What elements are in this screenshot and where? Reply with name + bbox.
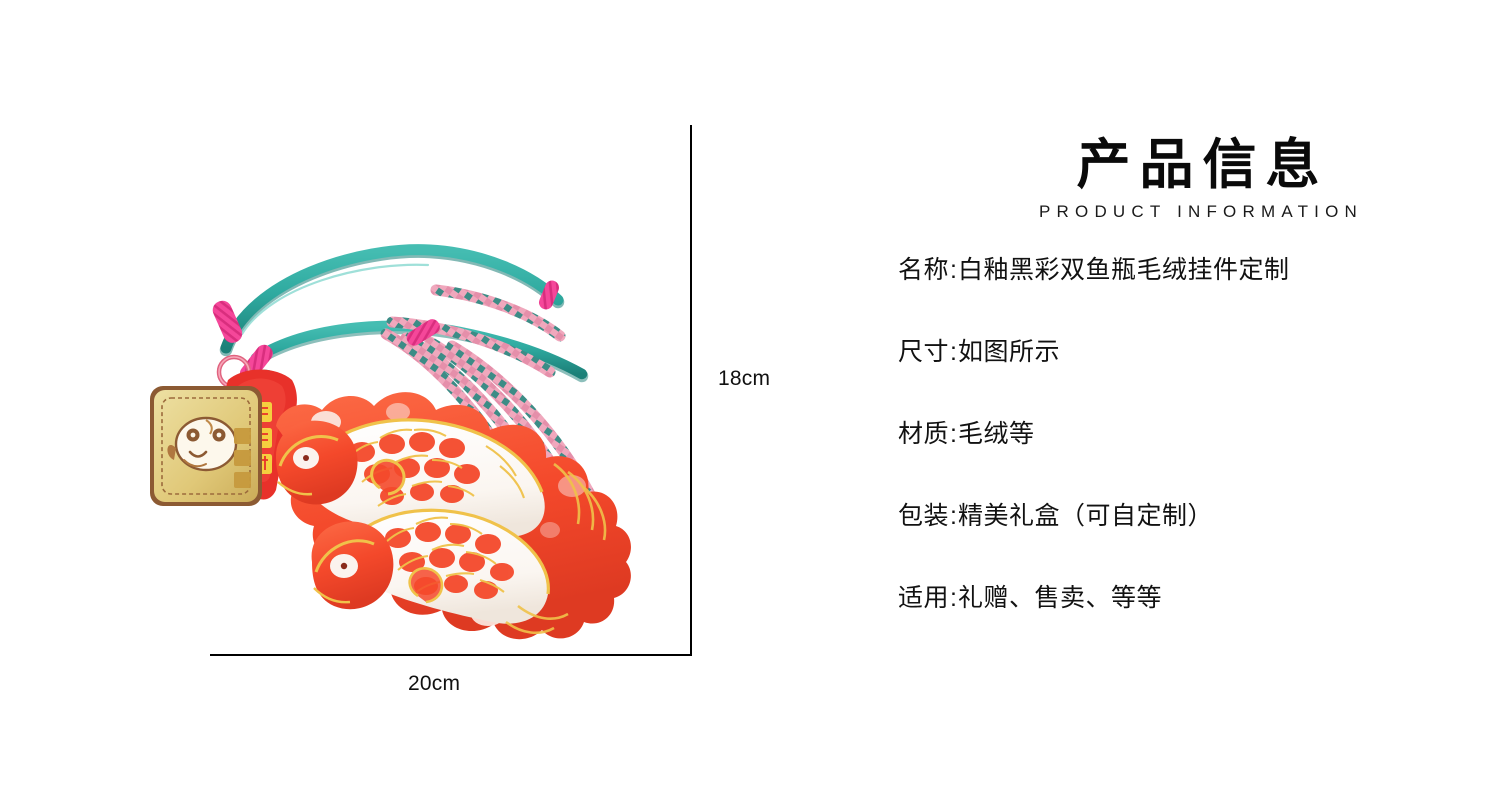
spec-value: 毛绒等 [958, 422, 1035, 447]
title-block: 产品信息 PRODUCT INFORMATION [968, 136, 1428, 222]
paper-hangtag-icon [150, 386, 262, 506]
spec-separator: : [950, 586, 957, 611]
spec-value: 如图所示 [958, 340, 1060, 365]
product-photo [130, 230, 710, 650]
spec-value: 礼赠、售卖、等等 [958, 586, 1162, 611]
spec-value: 精美礼盒（可自定制） [958, 504, 1213, 529]
spec-separator: : [950, 340, 957, 365]
spec-row-material: 材质 : 毛绒等 [898, 422, 1498, 504]
spec-separator: : [950, 422, 957, 447]
product-information-panel: 产品信息 PRODUCT INFORMATION 名称 : 白釉黑彩双鱼瓶毛绒挂… [880, 0, 1500, 800]
spec-row-usage: 适用 : 礼赠、售卖、等等 [898, 586, 1498, 668]
spec-key: 名称 [898, 258, 949, 283]
dimension-line-horizontal [210, 654, 692, 656]
spec-separator: : [950, 258, 957, 283]
spec-value: 白釉黑彩双鱼瓶毛绒挂件定制 [958, 258, 1290, 283]
dimension-width-label: 20cm [408, 672, 460, 696]
page-title: 产品信息 [977, 136, 1428, 193]
spec-key: 适用 [898, 586, 949, 611]
double-fish-plush-icon [276, 392, 631, 639]
spec-key: 材质 [898, 422, 949, 447]
spec-row-packaging: 包装 : 精美礼盒（可自定制） [898, 504, 1498, 586]
spec-list: 名称 : 白釉黑彩双鱼瓶毛绒挂件定制 尺寸 : 如图所示 材质 : 毛绒等 包装… [898, 258, 1498, 668]
spec-row-name: 名称 : 白釉黑彩双鱼瓶毛绒挂件定制 [898, 258, 1498, 340]
spec-key: 包装 [898, 504, 949, 529]
spec-separator: : [950, 504, 957, 529]
product-image-panel: 18cm 20cm [0, 0, 820, 800]
spec-key: 尺寸 [898, 340, 949, 365]
dimension-height-label: 18cm [718, 367, 770, 391]
spec-row-size: 尺寸 : 如图所示 [898, 340, 1498, 422]
page-subtitle: PRODUCT INFORMATION [974, 202, 1428, 222]
